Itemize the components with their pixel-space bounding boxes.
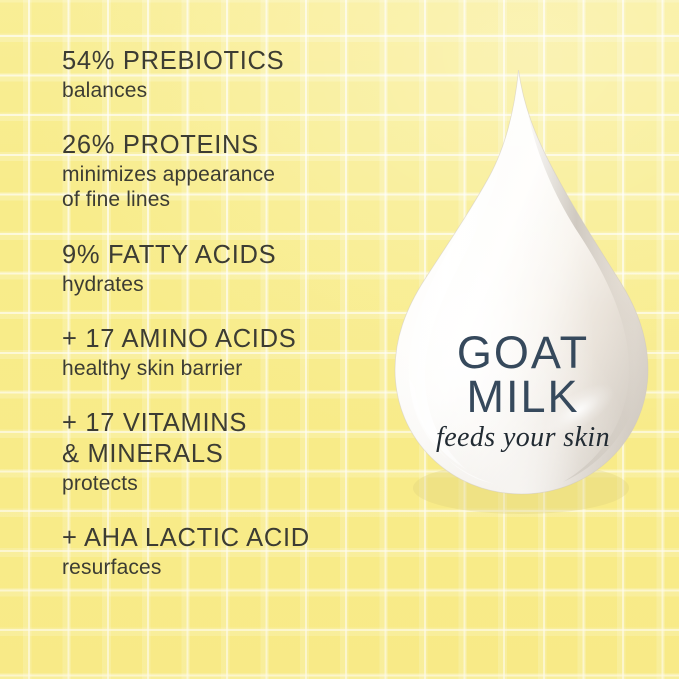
ingredient-list: 54% PREBIOTICS balances 26% PROTEINS min… bbox=[62, 46, 392, 580]
ingredient-benefit: hydrates bbox=[62, 272, 392, 298]
ingredient-benefit: protects bbox=[62, 471, 392, 497]
ingredient-heading: + AHA LACTIC ACID bbox=[62, 523, 392, 554]
ingredient-item-fatty-acids: 9% FATTY ACIDS hydrates bbox=[62, 240, 392, 297]
ingredient-heading: 54% PREBIOTICS bbox=[62, 46, 392, 77]
ingredient-benefit: resurfaces bbox=[62, 555, 392, 581]
ingredient-heading: + 17 AMINO ACIDS bbox=[62, 324, 392, 355]
goat-milk-ingredient-poster: 54% PREBIOTICS balances 26% PROTEINS min… bbox=[0, 0, 679, 679]
milk-droplet-icon bbox=[383, 58, 663, 550]
ingredient-benefit: balances bbox=[62, 78, 392, 104]
ingredient-item-prebiotics: 54% PREBIOTICS balances bbox=[62, 46, 392, 103]
ingredient-item-amino-acids: + 17 AMINO ACIDS healthy skin barrier bbox=[62, 324, 392, 381]
ingredient-item-proteins: 26% PROTEINS minimizes appearance of fin… bbox=[62, 130, 392, 213]
ingredient-heading: + 17 VITAMINS & MINERALS bbox=[62, 408, 392, 469]
ingredient-item-aha-lactic-acid: + AHA LACTIC ACID resurfaces bbox=[62, 523, 392, 580]
ingredient-benefit: minimizes appearance of fine lines bbox=[62, 162, 392, 213]
ingredient-heading: 26% PROTEINS bbox=[62, 130, 392, 161]
ingredient-heading: 9% FATTY ACIDS bbox=[62, 240, 392, 271]
ingredient-benefit: healthy skin barrier bbox=[62, 356, 392, 382]
ingredient-item-vitamins-minerals: + 17 VITAMINS & MINERALS protects bbox=[62, 408, 392, 496]
milk-droplet-graphic: GOAT MILK feeds your skin bbox=[383, 58, 663, 550]
